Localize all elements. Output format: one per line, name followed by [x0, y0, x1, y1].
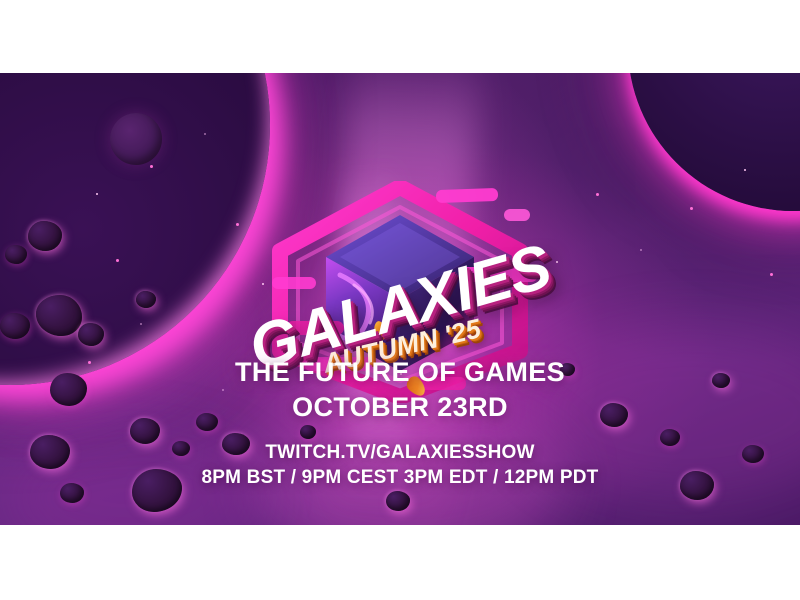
star: [204, 133, 206, 135]
star: [640, 249, 642, 251]
star: [770, 273, 773, 276]
asteroid: [386, 491, 410, 511]
planet-top-right: [628, 73, 800, 211]
asteroid: [78, 323, 104, 346]
star: [116, 259, 119, 262]
headline-line-2: OCTOBER 23RD: [0, 390, 800, 425]
timezone-lineup: 8PM BST / 9PM CEST 3PM EDT / 12PM PDT: [0, 467, 800, 489]
star: [96, 193, 98, 195]
copy-spacer: [0, 424, 800, 442]
star: [744, 169, 746, 171]
star: [236, 223, 239, 226]
moon-small: [110, 113, 162, 165]
galaxies-event-banner: GALAXIES AUTUMN '25 THE FUTURE OF GAMES …: [0, 73, 800, 525]
asteroid: [0, 313, 30, 339]
asteroid: [5, 245, 27, 264]
star: [596, 193, 599, 196]
asteroid: [28, 221, 62, 251]
star: [140, 323, 142, 325]
star: [556, 261, 558, 263]
asteroid: [136, 291, 156, 308]
headline-line-1: THE FUTURE OF GAMES: [0, 355, 800, 390]
poster-root: GALAXIES AUTUMN '25 THE FUTURE OF GAMES …: [0, 0, 800, 600]
stream-url[interactable]: TWITCH.TV/GALAXIESSHOW: [0, 442, 800, 464]
star: [690, 207, 693, 210]
event-copy-block: THE FUTURE OF GAMES OCTOBER 23RD TWITCH.…: [0, 355, 800, 489]
star: [150, 165, 153, 168]
